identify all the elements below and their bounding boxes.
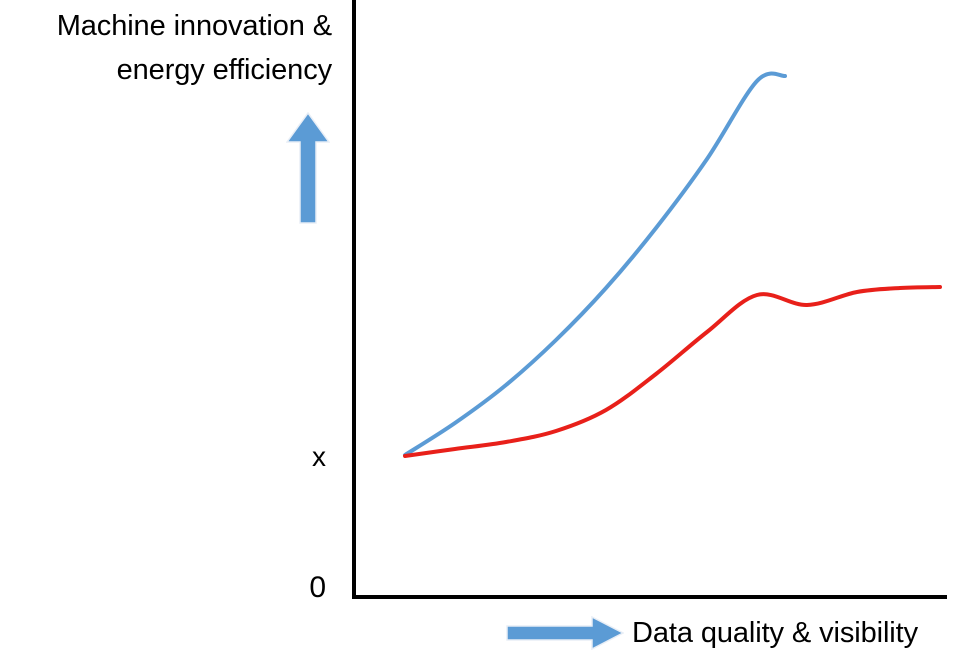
x-axis-title: Data quality & visibility xyxy=(632,614,918,652)
y-axis-line xyxy=(352,0,356,599)
arrow-up-icon xyxy=(286,112,330,224)
series-line-blue xyxy=(405,73,785,455)
arrow-right-icon xyxy=(506,616,624,650)
y-axis-title: Machine innovation & energy efficiency xyxy=(0,4,332,92)
plot-area xyxy=(0,0,969,655)
series-line-red xyxy=(405,287,940,456)
chart-canvas: Machine innovation & energy efficiency x… xyxy=(0,0,969,655)
x-axis-line xyxy=(352,595,947,599)
y-tick-label-zero: 0 xyxy=(288,572,326,604)
y-tick-label-x: x xyxy=(288,442,326,472)
